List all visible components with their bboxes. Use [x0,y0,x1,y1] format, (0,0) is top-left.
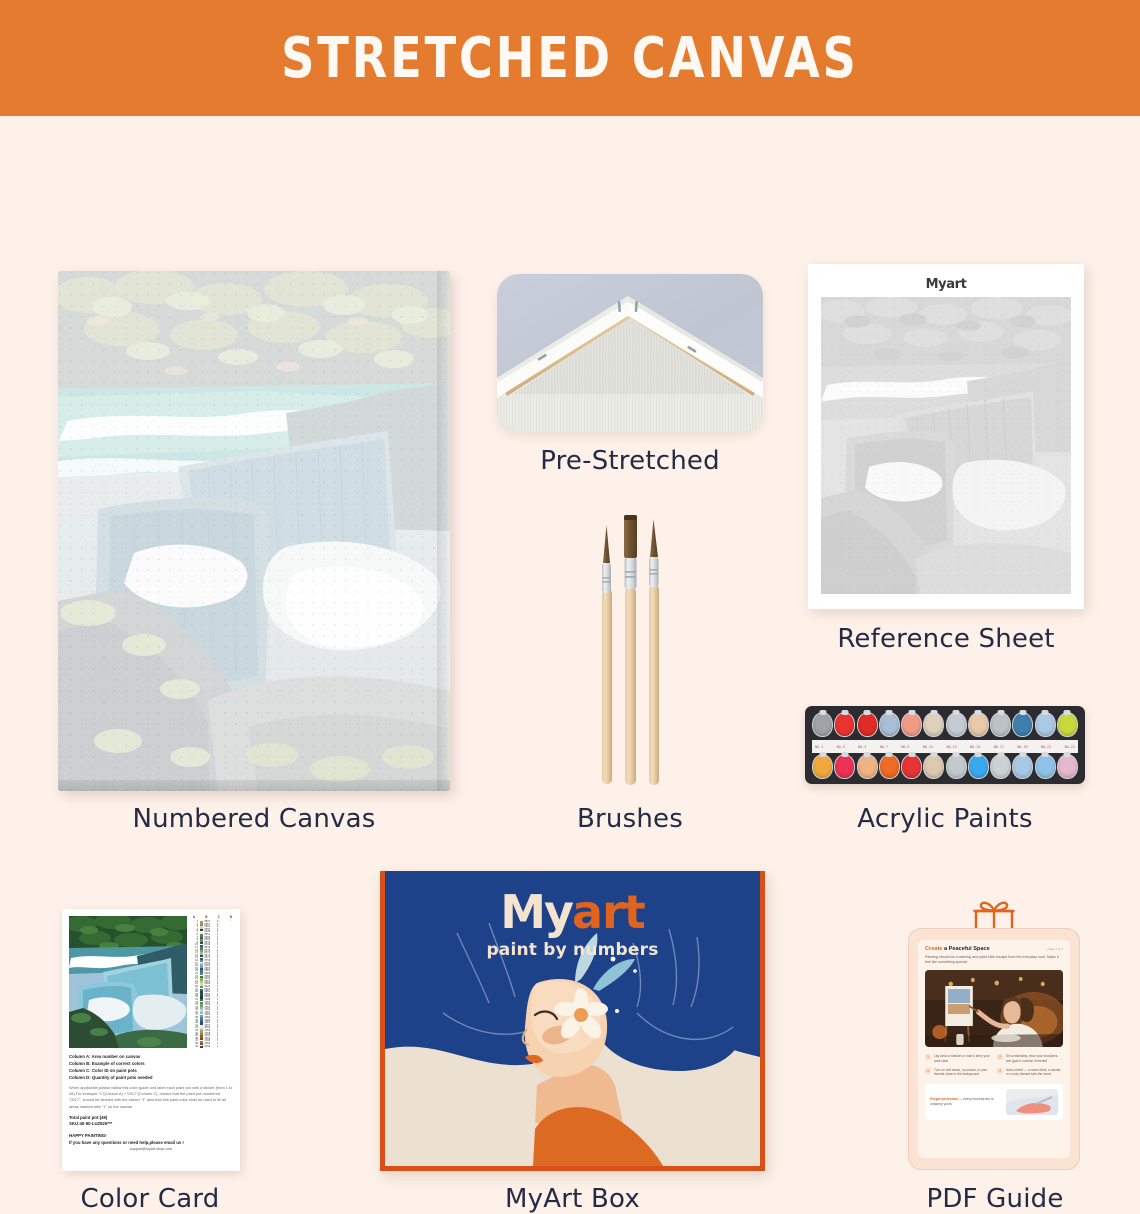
paint-pot-row-bottom [812,754,1078,781]
pdf-page-label: page 1 of 1 [1048,947,1063,951]
color-card-totals: Total paint pot:(49) SKU:40-50-LU2525*** [69,1115,233,1128]
bullet-text: Lay down a blanket or mat to keep your a… [934,1054,991,1063]
arrow-down-icon: ↓ [230,919,232,922]
support-email: support@myart-shop.com [69,1147,233,1151]
caption-pdf-guide: PDF Guide [880,1184,1110,1214]
happy-painting: HAPPY PAINTING! [69,1133,233,1140]
legend-line: Column A: Area number on canvas [69,1053,233,1060]
pdf-guide-photo [925,970,1063,1047]
paint-pot[interactable] [946,712,967,737]
color-card-legend: Column A: Area number on canvas Column B… [69,1053,233,1081]
canvas-corner-illustration [497,274,763,432]
pdf-bullet-item: 4Add comfort — a warm drink, a candle, o… [997,1068,1063,1077]
paint-label: NO.5 [858,745,866,749]
caption-reference-sheet: Reference Sheet [808,624,1084,654]
paint-pot[interactable] [968,712,989,737]
sku-line: SKU:40-50-LU2525*** [69,1121,233,1128]
bullet-icon: 3 [925,1068,931,1074]
color-card-table: A B C D ↓ ↓ ↓ ↓ 100171200571305011405071… [192,916,233,1048]
pdf-title-rest: a Peaceful Space [942,946,989,952]
paint-tray: NO.1NO.3NO.5NO.7NO.9NO.11NO.13NO.15NO.17… [805,706,1085,784]
area-number: 49 [192,1046,198,1049]
product-grid: Numbered Canvas [0,116,1140,1140]
brand-art: art [572,885,645,939]
paint-pot[interactable] [923,754,944,779]
paint-pot[interactable] [812,712,833,737]
canvas-side-edge [437,271,450,791]
legend-line: Column D: Quantity of paint pots needed [69,1074,233,1081]
pdf-guide-bullets: 1Lay down a blanket or mat to keep your … [925,1054,1063,1076]
legend-line: Column B: Example of correct colors [69,1060,233,1067]
canvas-frame [58,271,450,791]
caption-pre-stretched: Pre-Stretched [497,446,763,476]
paint-label-strip: NO.1NO.3NO.5NO.7NO.9NO.11NO.13NO.15NO.17… [812,740,1078,753]
color-card-row: 4923101 [192,1046,233,1049]
paint-pot[interactable] [812,754,833,779]
reference-sheet-paper: Myart [808,264,1084,609]
reference-grayscale-artwork [821,297,1071,594]
paint-pot[interactable] [1057,754,1078,779]
paint-pot-row-top [812,712,1078,739]
paint-label: NO.21 [1041,745,1051,749]
myart-box-outer: Myart paint by numbers [380,871,765,1171]
myart-box-face: Myart paint by numbers [385,871,760,1166]
pdf-guide-footer: Forget perfection — every brushstroke is… [925,1084,1063,1120]
paint-label: NO.15 [970,745,980,749]
pre-stretched-image [497,274,763,432]
pdf-guide-image: Create a Peaceful Space page 1 of 1 Pain… [908,898,1080,1170]
color-card-image: A B C D ↓ ↓ ↓ ↓ 100171200571305011405071… [62,909,240,1171]
reference-sheet-image: Myart [808,264,1084,609]
paint-pot[interactable] [923,712,944,737]
acrylic-paints-image: NO.1NO.3NO.5NO.7NO.9NO.11NO.13NO.15NO.17… [805,706,1085,784]
bullet-icon: 1 [925,1054,931,1060]
brush-round [602,525,612,784]
bullet-icon: 2 [997,1054,1003,1060]
paint-label: NO.19 [1017,745,1027,749]
color-card-top: A B C D ↓ ↓ ↓ ↓ 100171200571305011405071… [69,916,233,1048]
myart-logo-reference: Myart [926,277,967,292]
numbered-canvas-image [58,271,450,791]
pdf-footer-accent: Forget perfection [930,1097,958,1101]
pdf-guide-card: Create a Peaceful Space page 1 of 1 Pain… [908,928,1080,1170]
paint-pot[interactable] [857,754,878,779]
paint-pot[interactable] [901,754,922,779]
paint-pot[interactable] [834,712,855,737]
paint-label: NO.11 [923,745,933,749]
color-card-note: When applicable,please follow this color… [69,1085,233,1110]
brand-my: My [500,885,572,939]
bullet-text: Turn on soft music, a podcast, or your f… [934,1068,991,1077]
caption-acrylic-paints: Acrylic Paints [805,804,1085,834]
pot-quantity: 1 [217,1046,221,1049]
pdf-guide-page: Create a Peaceful Space page 1 of 1 Pain… [918,940,1070,1158]
pdf-footer-image [1006,1089,1058,1115]
paint-pot[interactable] [1012,712,1033,737]
canvas-bottom-edge [58,780,450,791]
pdf-subtitle: Painting should be a calming and joyful … [925,955,1063,965]
total-paint-pot: Total paint pot:(49) [69,1115,233,1122]
paint-label: NO.17 [994,745,1004,749]
paint-label: NO.13 [947,745,957,749]
caption-brushes: Brushes [497,804,763,834]
bullet-text: Sit comfortably, relax your shoulders, a… [1006,1054,1063,1063]
caption-numbered-canvas: Numbered Canvas [58,804,450,834]
help-line: If you have any questions or need help,p… [69,1140,233,1147]
caption-color-card: Color Card [40,1184,260,1214]
brushes-image [565,501,695,791]
color-swatch [200,1046,203,1048]
paint-label: NO.9 [901,745,909,749]
caption-myart-box: MyArt Box [380,1184,765,1214]
brand-tagline: paint by numbers [385,940,760,960]
paint-pot[interactable] [1012,754,1033,779]
canvas-artwork [58,271,450,791]
paint-pot[interactable] [946,754,967,779]
color-card-photo [69,916,187,1048]
color-card-rows: 1001712005713050114050715044916045117046… [192,921,233,1048]
brush-flat [624,515,637,785]
paint-pot[interactable] [879,712,900,737]
pdf-guide-heading: Create a Peaceful Space page 1 of 1 [925,946,1063,952]
pre-stretched-photo [497,274,763,432]
paint-pot[interactable] [901,712,922,737]
pdf-title-accent: Create [925,946,942,952]
color-id: 2310 [204,1046,215,1049]
paint-pot[interactable] [879,754,900,779]
brush-detail [649,519,659,785]
paint-pot[interactable] [857,712,878,737]
gift-icon [970,898,1018,932]
pdf-bullet-item: 3Turn on soft music, a podcast, or your … [925,1068,991,1077]
pdf-bullet-item: 2Sit comfortably, relax your shoulders, … [997,1054,1063,1063]
paint-pot[interactable] [1057,712,1078,737]
paint-label: NO.7 [880,745,888,749]
paint-pot[interactable] [990,754,1011,779]
bullet-text: Add comfort — a warm drink, a candle, or… [1006,1068,1063,1077]
bullet-icon: 4 [997,1068,1003,1074]
myart-box-image: Myart paint by numbers [380,871,765,1171]
paint-pot[interactable] [834,754,855,779]
paint-label: NO.3 [837,745,845,749]
page-header: STRETCHED CANVAS [0,0,1140,116]
paint-label: NO.23 [1065,745,1075,749]
paint-label: NO.1 [815,745,823,749]
page-title: STRETCHED CANVAS [281,26,859,91]
paint-pot[interactable] [968,754,989,779]
brush-set-illustration [565,501,695,791]
pdf-footer-text: Forget perfection — every brushstroke is… [930,1097,1001,1107]
legend-line: Column C: Color ID on paint pots [69,1067,233,1074]
myart-box-branding: Myart paint by numbers [385,885,760,960]
paint-pot[interactable] [1035,754,1056,779]
paint-pot[interactable] [1035,712,1056,737]
pdf-bullet-item: 1Lay down a blanket or mat to keep your … [925,1054,991,1063]
color-card-sheet: A B C D ↓ ↓ ↓ ↓ 100171200571305011405071… [62,909,240,1171]
paint-pot[interactable] [990,712,1011,737]
